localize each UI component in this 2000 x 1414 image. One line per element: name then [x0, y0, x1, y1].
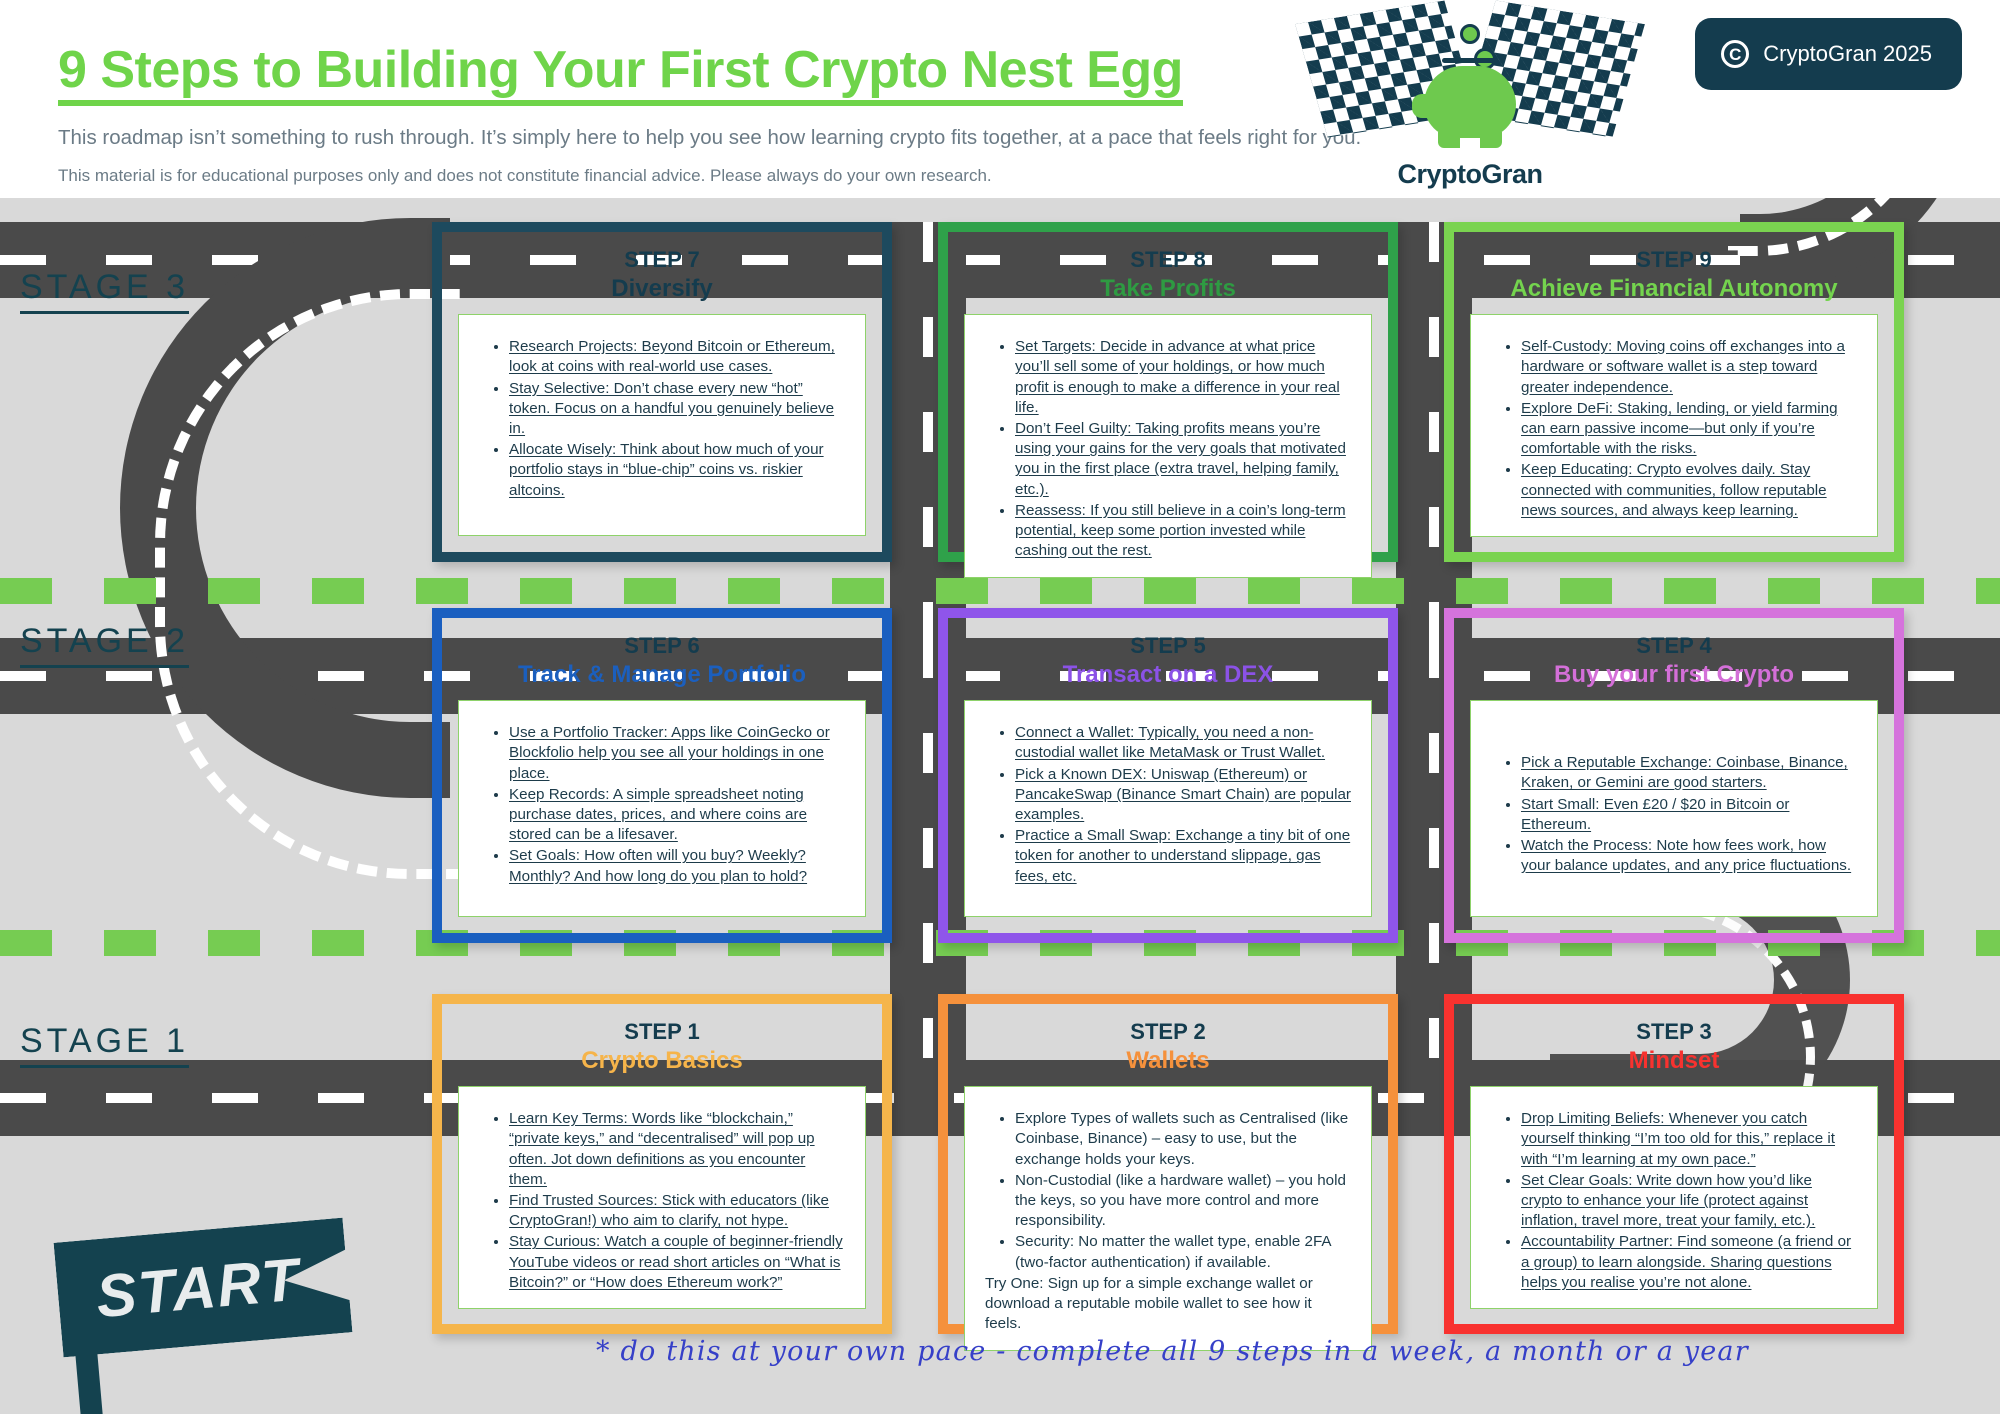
step-card-4[interactable]: STEP 4 Buy your first Crypto Pick a Repu…: [1444, 608, 1904, 943]
bullet-item: Stay Curious: Watch a couple of beginner…: [509, 1232, 845, 1293]
step-title: Wallets: [964, 1046, 1372, 1076]
step-title: Diversify: [458, 274, 866, 304]
copyright-badge: C CryptoGran 2025: [1695, 18, 1962, 90]
start-flag: START: [54, 1218, 353, 1358]
step-number: STEP 2: [964, 1018, 1372, 1046]
piggy-bank-icon: [1424, 66, 1516, 138]
card-header: STEP 5 Transact on a DEX: [964, 632, 1372, 690]
stage-divider-3-2: [0, 578, 2000, 604]
card-header: STEP 3 Mindset: [1470, 1018, 1878, 1076]
step-number: STEP 7: [458, 246, 866, 274]
copyright-label: CryptoGran 2025: [1763, 41, 1932, 67]
step-card-9[interactable]: STEP 9 Achieve Financial Autonomy Self-C…: [1444, 222, 1904, 562]
roadmap-infographic: 9 Steps to Building Your First Crypto Ne…: [0, 0, 2000, 1414]
step-title: Mindset: [1470, 1046, 1878, 1076]
step-number: STEP 9: [1470, 246, 1878, 274]
card-body: Self-Custody: Moving coins off exchanges…: [1470, 314, 1878, 537]
card-body: Set Targets: Decide in advance at what p…: [964, 314, 1372, 577]
coin-icon: [1460, 24, 1480, 44]
bullet-list: Pick a Reputable Exchange: Coinbase, Bin…: [1521, 753, 1857, 876]
bullet-item: Keep Educating: Crypto evolves daily. St…: [1521, 460, 1857, 521]
card-body: Explore Types of wallets such as Central…: [964, 1086, 1372, 1350]
bullet-item: Accountability Partner: Find someone (a …: [1521, 1232, 1857, 1293]
card-header: STEP 1 Crypto Basics: [458, 1018, 866, 1076]
bullet-item: Practice a Small Swap: Exchange a tiny b…: [1015, 826, 1351, 887]
step-number: STEP 1: [458, 1018, 866, 1046]
card-header: STEP 2 Wallets: [964, 1018, 1372, 1076]
bullet-item: Set Targets: Decide in advance at what p…: [1015, 337, 1351, 418]
card-body: Connect a Wallet: Typically, you need a …: [964, 700, 1372, 917]
footnote-handwritten: * do this at your own pace - complete al…: [596, 1336, 1749, 1367]
bullet-list: Connect a Wallet: Typically, you need a …: [1015, 723, 1351, 887]
step-card-2[interactable]: STEP 2 Wallets Explore Types of wallets …: [938, 994, 1398, 1334]
bullet-item: Use a Portfolio Tracker: Apps like CoinG…: [509, 723, 845, 784]
start-label: START: [93, 1245, 303, 1332]
card-body: Drop Limiting Beliefs: Whenever you catc…: [1470, 1086, 1878, 1309]
brand-logo: CryptoGran: [1305, 4, 1635, 194]
bullet-item: Explore DeFi: Staking, lending, or yield…: [1521, 399, 1857, 460]
bullet-list: Drop Limiting Beliefs: Whenever you catc…: [1521, 1109, 1857, 1293]
card-header: STEP 6 Track & Manage Portfolio: [458, 632, 866, 690]
bullet-list: Learn Key Terms: Words like “blockchain,…: [509, 1109, 845, 1293]
copyright-icon: C: [1721, 40, 1749, 68]
bullet-item: Drop Limiting Beliefs: Whenever you catc…: [1521, 1109, 1857, 1170]
step-number: STEP 3: [1470, 1018, 1878, 1046]
step-card-3[interactable]: STEP 3 Mindset Drop Limiting Beliefs: Wh…: [1444, 994, 1904, 1334]
step-title: Achieve Financial Autonomy: [1470, 274, 1878, 304]
step-card-6[interactable]: STEP 6 Track & Manage Portfolio Use a Po…: [432, 608, 892, 943]
bullet-item: Pick a Reputable Exchange: Coinbase, Bin…: [1521, 753, 1857, 793]
card-header: STEP 4 Buy your first Crypto: [1470, 632, 1878, 690]
step-title: Track & Manage Portfolio: [458, 660, 866, 690]
plain-note: Try One: Sign up for a simple exchange w…: [985, 1274, 1351, 1335]
page-subtitle: This roadmap isn’t something to rush thr…: [58, 126, 1361, 150]
bullet-item: Self-Custody: Moving coins off exchanges…: [1521, 337, 1857, 398]
stage-label-3: STAGE 3: [20, 268, 189, 314]
bullet-item: Allocate Wisely: Think about how much of…: [509, 440, 845, 501]
bullet-list: Explore Types of wallets such as Central…: [1015, 1109, 1351, 1273]
bullet-item: Don’t Feel Guilty: Taking profits means …: [1015, 419, 1351, 500]
step-number: STEP 4: [1470, 632, 1878, 660]
card-body: Learn Key Terms: Words like “blockchain,…: [458, 1086, 866, 1309]
stage-label-1: STAGE 1: [20, 1022, 189, 1068]
bullet-item: Non-Custodial (like a hardware wallet) –…: [1015, 1171, 1351, 1232]
card-header: STEP 7 Diversify: [458, 246, 866, 304]
step-number: STEP 5: [964, 632, 1372, 660]
bullet-item: Reassess: If you still believe in a coin…: [1015, 501, 1351, 562]
step-title: Crypto Basics: [458, 1046, 866, 1076]
step-card-7[interactable]: STEP 7 Diversify Research Projects: Beyo…: [432, 222, 892, 562]
step-title: Take Profits: [964, 274, 1372, 304]
bullet-list: Self-Custody: Moving coins off exchanges…: [1521, 337, 1857, 521]
piggy-slot-icon: [1442, 58, 1498, 63]
bullet-item: Connect a Wallet: Typically, you need a …: [1015, 723, 1351, 763]
start-banner: START: [54, 1218, 353, 1358]
card-header: STEP 9 Achieve Financial Autonomy: [1470, 246, 1878, 304]
step-number: STEP 8: [964, 246, 1372, 274]
bullet-item: Explore Types of wallets such as Central…: [1015, 1109, 1351, 1170]
bullet-item: Set Clear Goals: Write down how you’d li…: [1521, 1171, 1857, 1232]
step-number: STEP 6: [458, 632, 866, 660]
bullet-item: Set Goals: How often will you buy? Weekl…: [509, 846, 845, 886]
bullet-list: Research Projects: Beyond Bitcoin or Eth…: [509, 337, 845, 501]
bullet-item: Start Small: Even £20 / $20 in Bitcoin o…: [1521, 795, 1857, 835]
page-disclaimer: This material is for educational purpose…: [58, 166, 992, 186]
card-body: Research Projects: Beyond Bitcoin or Eth…: [458, 314, 866, 536]
bullet-list: Set Targets: Decide in advance at what p…: [1015, 337, 1351, 561]
step-title: Transact on a DEX: [964, 660, 1372, 690]
step-title: Buy your first Crypto: [1470, 660, 1878, 690]
bullet-item: Learn Key Terms: Words like “blockchain,…: [509, 1109, 845, 1190]
brand-name: CryptoGran: [1305, 159, 1635, 190]
step-card-1[interactable]: STEP 1 Crypto Basics Learn Key Terms: Wo…: [432, 994, 892, 1334]
bullet-item: Find Trusted Sources: Stick with educato…: [509, 1191, 845, 1231]
card-body: Use a Portfolio Tracker: Apps like CoinG…: [458, 700, 866, 917]
step-card-5[interactable]: STEP 5 Transact on a DEX Connect a Walle…: [938, 608, 1398, 943]
bullet-item: Stay Selective: Don’t chase every new “h…: [509, 379, 845, 440]
bullet-item: Security: No matter the wallet type, ena…: [1015, 1232, 1351, 1272]
card-body: Pick a Reputable Exchange: Coinbase, Bin…: [1470, 700, 1878, 917]
bullet-item: Research Projects: Beyond Bitcoin or Eth…: [509, 337, 845, 377]
page-title: 9 Steps to Building Your First Crypto Ne…: [58, 42, 1183, 106]
bullet-item: Keep Records: A simple spreadsheet notin…: [509, 785, 845, 846]
step-card-8[interactable]: STEP 8 Take Profits Set Targets: Decide …: [938, 222, 1398, 562]
card-header: STEP 8 Take Profits: [964, 246, 1372, 304]
stage-label-2: STAGE 2: [20, 622, 189, 668]
bullet-item: Watch the Process: Note how fees work, h…: [1521, 836, 1857, 876]
bullet-item: Pick a Known DEX: Uniswap (Ethereum) or …: [1015, 765, 1351, 826]
bullet-list: Use a Portfolio Tracker: Apps like CoinG…: [509, 723, 845, 887]
